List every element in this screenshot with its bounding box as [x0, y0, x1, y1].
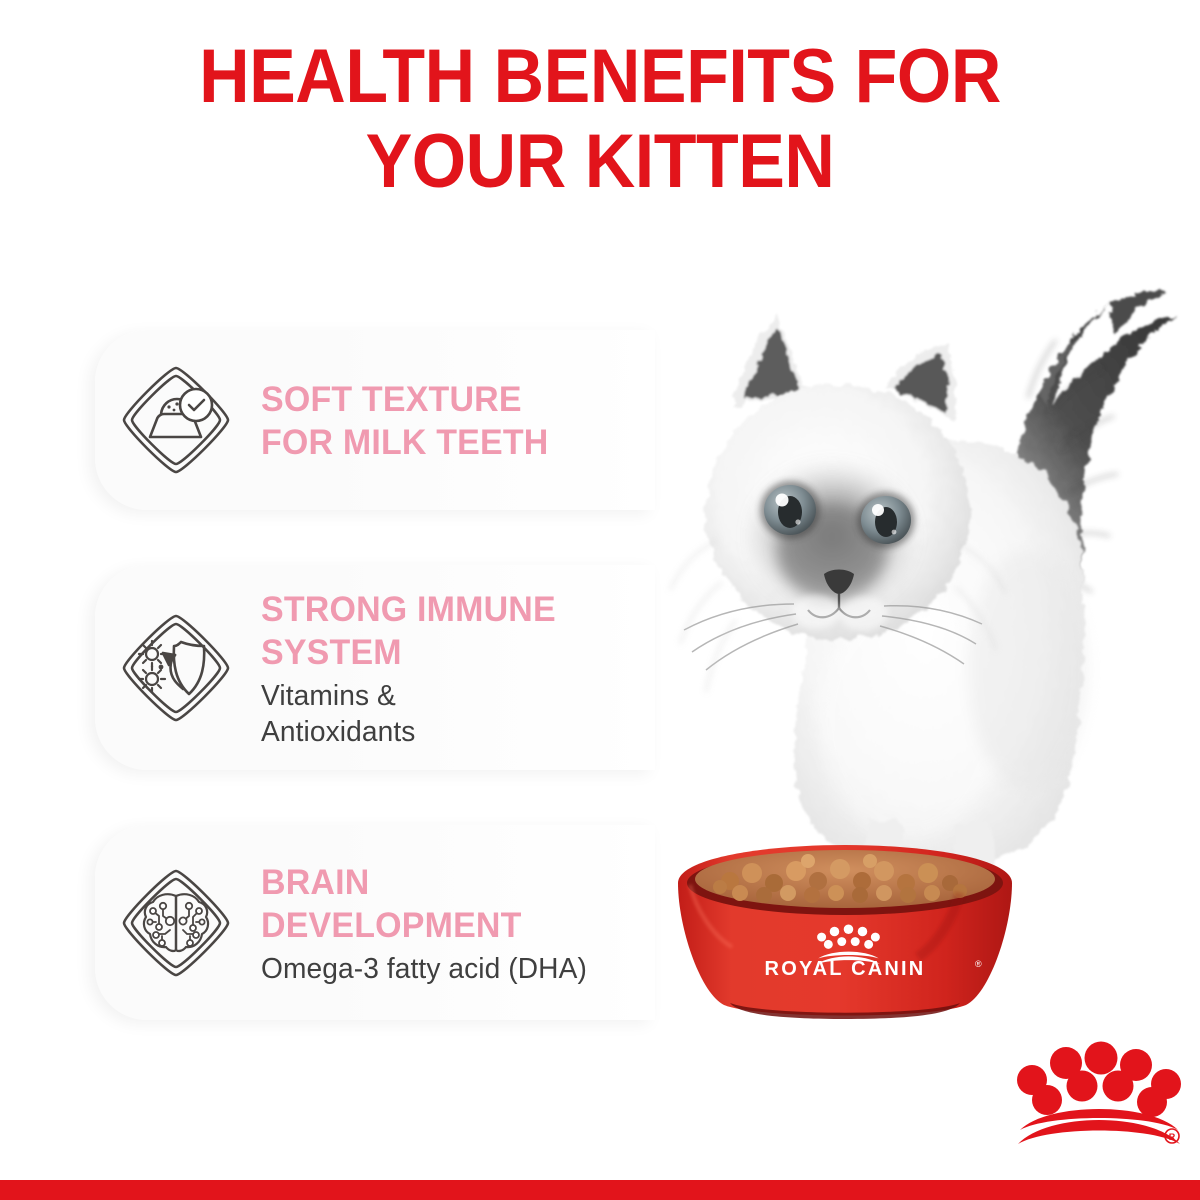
benefit-title: SOFT TEXTURE FOR MILK TEETH [261, 378, 643, 464]
poster-canvas: HEALTH BENEFITS FOR YOUR KITTEN [0, 0, 1200, 1200]
benefit-text-block: SOFT TEXTURE FOR MILK TEETH [261, 376, 655, 464]
benefit-title: STRONG IMMUNE SYSTEM [261, 588, 643, 674]
benefit-card-brain-development[interactable]: BRAIN DEVELOPMENT Omega-3 fatty acid (DH… [95, 825, 655, 1020]
bowl-brand-text: ROYAL CANIN [765, 958, 926, 980]
bowl-check-icon [117, 361, 235, 479]
page-title: HEALTH BENEFITS FOR YOUR KITTEN [0, 34, 1200, 204]
benefit-card-soft-texture[interactable]: SOFT TEXTURE FOR MILK TEETH [95, 330, 655, 510]
benefit-text-block: STRONG IMMUNE SYSTEM Vitamins & Antioxid… [261, 586, 655, 750]
footer-accent-bar [0, 1180, 1200, 1200]
page-title-line-2: YOUR KITTEN [48, 119, 1152, 204]
brain-icon [117, 864, 235, 982]
page-title-line-1: HEALTH BENEFITS FOR [48, 34, 1152, 119]
benefit-subtitle: Vitamins & Antioxidants [261, 678, 643, 750]
bowl-trademark: ® [975, 959, 982, 969]
svg-text:R: R [1169, 1132, 1176, 1142]
royal-canin-crown-logo: R [1014, 1038, 1184, 1158]
shield-immune-icon [117, 609, 235, 727]
kitten-photo [610, 200, 1200, 940]
benefit-title: BRAIN DEVELOPMENT [261, 861, 643, 947]
product-bowl: ROYAL CANIN ® [660, 835, 1030, 1025]
benefit-text-block: BRAIN DEVELOPMENT Omega-3 fatty acid (DH… [261, 859, 655, 987]
benefit-card-immune-system[interactable]: STRONG IMMUNE SYSTEM Vitamins & Antioxid… [95, 565, 655, 770]
benefit-subtitle: Omega-3 fatty acid (DHA) [261, 951, 643, 987]
